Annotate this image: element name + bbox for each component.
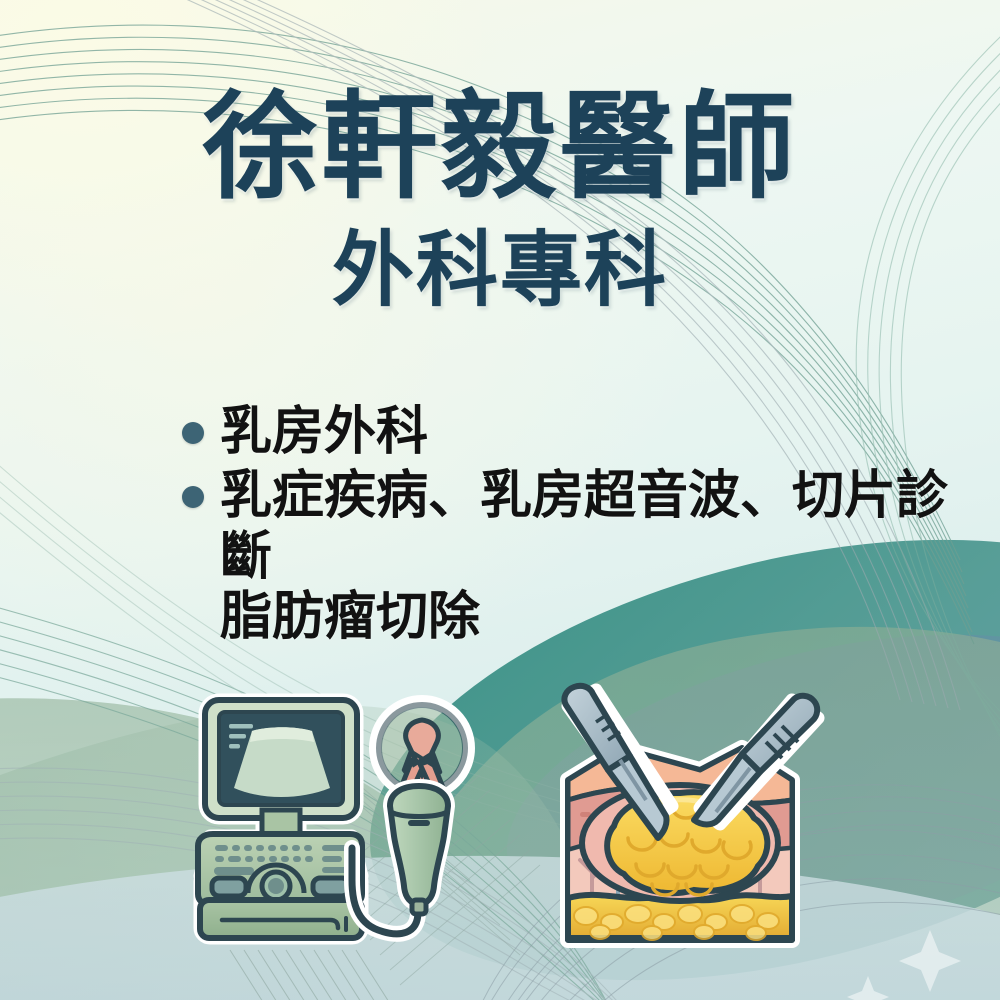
bullet-dot-icon <box>182 486 204 508</box>
page-title: 徐軒毅醫師 <box>0 88 1000 209</box>
bullet-dot-icon <box>182 422 204 444</box>
poster-canvas: 徐軒毅醫師 外科專科 乳房外科 乳症疾病、乳房超音波、切片診斷 脂肪瘤切除 <box>0 0 1000 1000</box>
list-item-label: 乳症疾病、乳房超音波、切片診斷 脂肪瘤切除 <box>220 466 962 647</box>
specialty-list: 乳房外科 乳症疾病、乳房超音波、切片診斷 脂肪瘤切除 <box>182 402 962 651</box>
list-item-line1: 乳症疾病、乳房超音波、切片診斷 <box>220 466 948 586</box>
list-item: 乳症疾病、乳房超音波、切片診斷 脂肪瘤切除 <box>182 466 962 647</box>
text-content: 徐軒毅醫師 外科專科 乳房外科 乳症疾病、乳房超音波、切片診斷 脂肪瘤切除 <box>0 0 1000 1000</box>
list-item-line2: 脂肪瘤切除 <box>220 587 962 647</box>
page-subtitle: 外科專科 <box>0 228 1000 314</box>
list-item-label: 乳房外科 <box>220 402 428 462</box>
list-item: 乳房外科 <box>182 402 962 462</box>
